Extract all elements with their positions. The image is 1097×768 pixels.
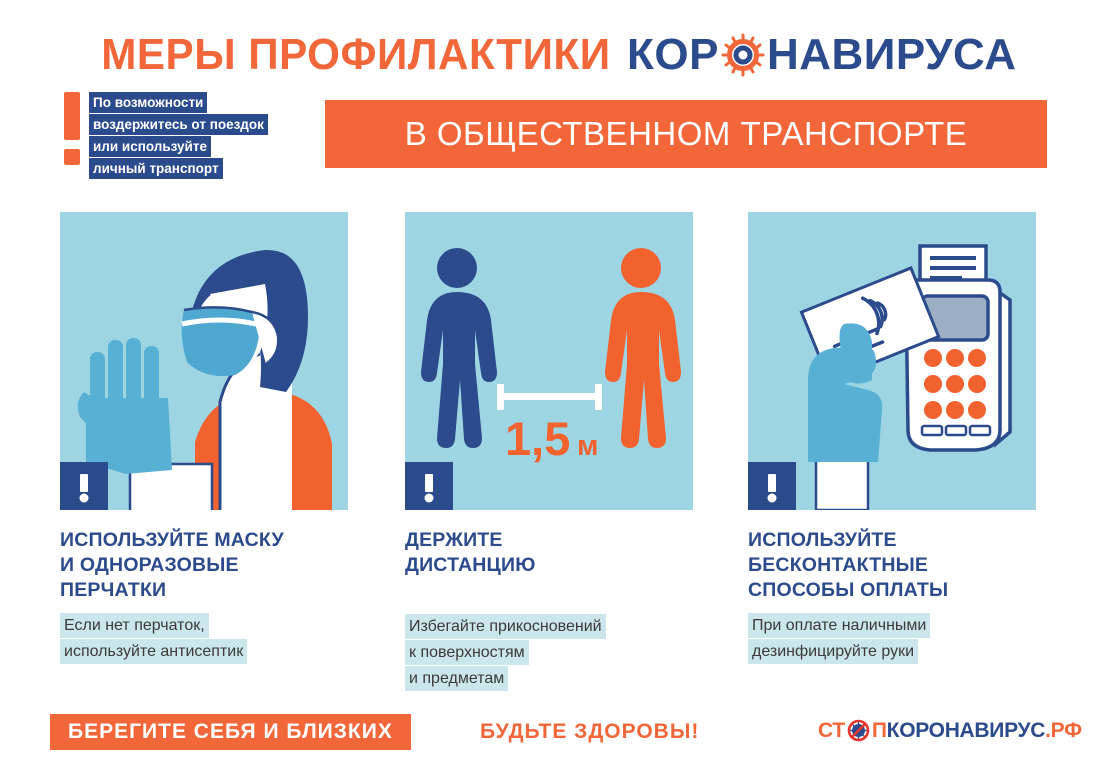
note-line: При оплате наличными xyxy=(748,613,930,638)
note-line: и предметам xyxy=(405,666,508,691)
social-distance-two-people-illustration: 1,5 м xyxy=(405,212,693,510)
footer-slogan-secondary-text: БУДЬТЕ ЗДОРОВЫ! xyxy=(480,720,699,744)
note-line: или используйте xyxy=(89,136,211,157)
title-blue-part: КОР xyxy=(627,30,1016,80)
note-line: используйте антисептик xyxy=(60,639,247,664)
note-line: к поверхностям xyxy=(405,640,529,665)
virus-stop-icon xyxy=(846,718,871,743)
distance-value: 1,5 xyxy=(505,412,570,465)
footer-slogan-primary: БЕРЕГИТЕ СЕБЯ И БЛИЗКИХ xyxy=(50,714,411,750)
virus-icon xyxy=(720,32,766,78)
heading-line: ИСПОЛЬЗУЙТЕ xyxy=(748,528,1078,553)
travel-note: По возможности воздержитесь от поездок и… xyxy=(89,92,329,180)
title-orange-part: МЕРЫ ПРОФИЛАКТИКИ xyxy=(102,30,611,80)
stopcoronavirus-logo[interactable]: СТ П КОРОНАВИРУС .РФ xyxy=(818,718,1082,743)
heading-line: ИСПОЛЬЗУЙТЕ МАСКУ xyxy=(60,528,390,553)
title-blue-suffix: НАВИРУСА xyxy=(767,30,1017,80)
caption-heading: ИСПОЛЬЗУЙТЕ МАСКУ И ОДНОРАЗОВЫЕ ПЕРЧАТКИ xyxy=(60,528,390,603)
note-line: Избегайте прикосновений xyxy=(405,614,606,639)
note-line: воздержитесь от поездок xyxy=(89,114,268,135)
heading-line: ПЕРЧАТКИ xyxy=(60,578,390,603)
logo-part-st: СТ xyxy=(818,719,845,743)
exclamation-badge-icon xyxy=(405,462,453,510)
note-line: дезинфицируйте руки xyxy=(748,639,918,664)
caption-heading: ДЕРЖИТЕ ДИСТАНЦИЮ xyxy=(405,528,735,578)
heading-line: ДИСТАНЦИЮ xyxy=(405,553,735,578)
logo-part-p: П xyxy=(872,719,887,743)
illustration-panel-distance: 1,5 м xyxy=(405,212,693,510)
exclamation-dot xyxy=(64,149,80,165)
subtitle-banner-text: В ОБЩЕСТВЕННОМ ТРАНСПОРТЕ xyxy=(405,115,968,153)
caption-payment: ИСПОЛЬЗУЙТЕ БЕСКОНТАКТНЫЕ СПОСОБЫ ОПЛАТЫ… xyxy=(748,528,1078,665)
caption-note: Если нет перчаток, используйте антисепти… xyxy=(60,613,390,665)
heading-line: СПОСОБЫ ОПЛАТЫ xyxy=(748,578,1078,603)
illustration-panel-mask xyxy=(60,212,348,510)
caption-note: Избегайте прикосновений к поверхностям и… xyxy=(405,614,735,692)
note-line: личный транспорт xyxy=(89,158,223,179)
contactless-payment-terminal-illustration xyxy=(748,212,1036,510)
caption-note: При оплате наличными дезинфицируйте руки xyxy=(748,613,1078,665)
exclamation-icon xyxy=(64,92,80,165)
heading-line: И ОДНОРАЗОВЫЕ xyxy=(60,553,390,578)
logo-part-koronavirus: КОРОНАВИРУС xyxy=(887,719,1045,743)
masked-person-with-glove-illustration xyxy=(60,212,348,510)
keypad-icon xyxy=(924,349,986,419)
person-orange-icon xyxy=(605,248,681,448)
illustration-panel-payment xyxy=(748,212,1036,510)
caption-distance: ДЕРЖИТЕ ДИСТАНЦИЮ Избегайте прикосновени… xyxy=(405,528,735,692)
measurement-bar-icon xyxy=(497,384,602,410)
note-line: Если нет перчаток, xyxy=(60,613,209,638)
logo-part-rf: .РФ xyxy=(1045,719,1082,743)
heading-line: ДЕРЖИТЕ xyxy=(405,528,735,553)
note-line: По возможности xyxy=(89,92,207,113)
footer-slogan-secondary: БУДЬТЕ ЗДОРОВЫ! xyxy=(480,714,699,750)
poster-title: МЕРЫ ПРОФИЛАКТИКИ КОР xyxy=(0,30,1097,80)
exclamation-badge-icon xyxy=(60,462,108,510)
exclamation-badge-icon xyxy=(748,462,796,510)
distance-unit: м xyxy=(577,430,598,462)
exclamation-bar xyxy=(64,92,80,140)
caption-mask: ИСПОЛЬЗУЙТЕ МАСКУ И ОДНОРАЗОВЫЕ ПЕРЧАТКИ… xyxy=(60,528,390,665)
infographic-poster: МЕРЫ ПРОФИЛАКТИКИ КОР xyxy=(0,0,1097,768)
caption-heading: ИСПОЛЬЗУЙТЕ БЕСКОНТАКТНЫЕ СПОСОБЫ ОПЛАТЫ xyxy=(748,528,1078,603)
subtitle-banner: В ОБЩЕСТВЕННОМ ТРАНСПОРТЕ xyxy=(325,100,1047,168)
footer-slogan-primary-text: БЕРЕГИТЕ СЕБЯ И БЛИЗКИХ xyxy=(68,720,393,744)
title-blue-prefix: КОР xyxy=(627,30,719,80)
person-blue-icon xyxy=(421,248,497,448)
heading-line: БЕСКОНТАКТНЫЕ xyxy=(748,553,1078,578)
